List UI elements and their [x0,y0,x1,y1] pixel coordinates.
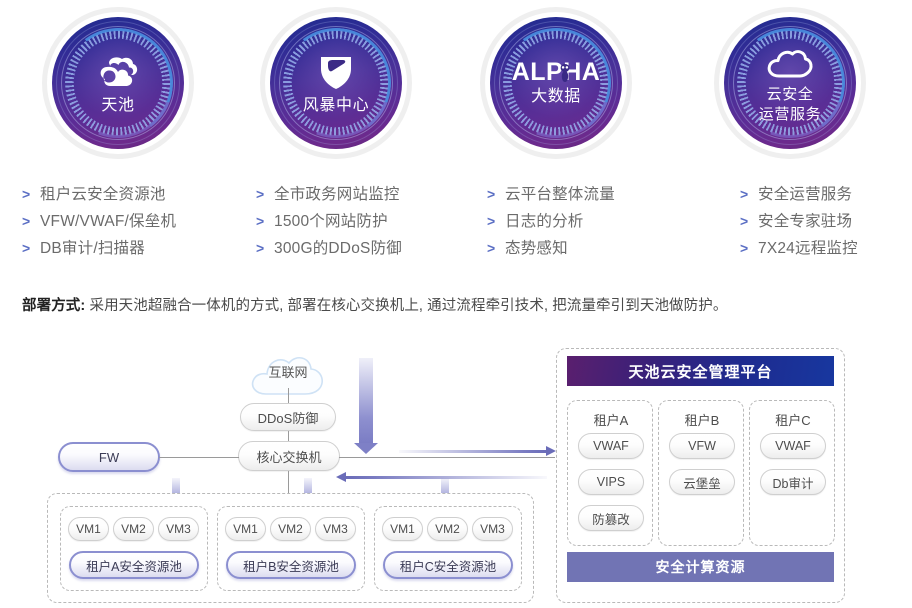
feature-lists: > 租户云安全资源池 > VFW/VWAF/保垒机 > DB审计/扫描器 > 全… [0,182,912,262]
badge-disc: 天池 [52,17,184,149]
badge-disc: 云安全 运营服务 [724,17,856,149]
chevron-right-icon: > [256,213,274,229]
badge-label: 大数据 [531,88,581,106]
platform-tenant-a: 租户A VWAF VIPS 防篡改 [567,400,653,546]
vm-label: VM1 [233,522,258,536]
vm-label: VM2 [121,522,146,536]
tenant-pool-label: 租户B安全资源池 [243,556,339,575]
alpha-wordmark-icon: ALPHA [512,60,601,85]
list-item-label: 日志的分析 [505,209,584,231]
chevron-right-icon: > [256,186,274,202]
tenant-pool-label: 租户C安全资源池 [400,556,497,575]
vm-chip[interactable]: VM3 [315,517,356,541]
chevron-right-icon: > [22,213,40,229]
firewall-label: FW [99,450,119,465]
badge-label-line1: 云安全 [767,87,814,104]
deployment-description: 部署方式: 采用天池超融合一体机的方式, 部署在核心交换机上, 通过流程牵引技术… [22,294,727,315]
platform-service-chip[interactable]: VWAF [760,433,826,459]
chevron-right-icon: > [740,186,758,202]
badge-outer-ring: 风暴中心 [265,12,407,154]
list-item: > 300G的DDoS防御 [256,236,402,263]
vm-chip[interactable]: VM3 [472,517,513,541]
chevron-right-icon: > [22,240,40,256]
owl-glyph-icon [559,63,571,85]
badge-storm-center[interactable]: 风暴中心 [222,8,450,158]
badge-outer-ring: 云安全 运营服务 [719,12,861,154]
vm-label: VM3 [323,522,348,536]
platform-tenant-c: 租户C VWAF Db审计 [749,400,835,546]
badge-alpha-bigdata[interactable]: ALPHA 大数据 [442,8,670,158]
feature-list-alpha: > 云平台整体流量 > 日志的分析 > 态势感知 [487,182,615,263]
service-label: VFW [688,439,716,453]
feature-list-storm-center: > 全市政务网站监控 > 1500个网站防护 > 300G的DDoS防御 [256,182,402,263]
service-label: VIPS [597,475,626,489]
badge-disc: 风暴中心 [270,17,402,149]
vm-chip[interactable]: VM2 [270,517,311,541]
service-label: VWAF [593,439,629,453]
list-item: > 租户云安全资源池 [22,182,176,209]
list-item-label: VFW/VWAF/保垒机 [40,209,176,231]
vm-chip[interactable]: VM1 [225,517,266,541]
badge-label: 天池 [101,97,134,115]
chevron-right-icon: > [740,240,758,256]
badge-content: ALPHA 大数据 [490,17,622,149]
platform-service-chip[interactable]: VIPS [578,469,644,495]
vm-chip[interactable]: VM1 [68,517,109,541]
tenant-pool-chip[interactable]: 租户A安全资源池 [69,551,199,579]
list-item: > 全市政务网站监控 [256,182,402,209]
vm-label: VM1 [76,522,101,536]
tenant-pool-chip[interactable]: 租户C安全资源池 [383,551,513,579]
badge-disc: ALPHA 大数据 [490,17,622,149]
chevron-right-icon: > [487,186,505,202]
chevron-right-icon: > [256,240,274,256]
list-item-label: 全市政务网站监控 [274,182,400,204]
architecture-diagram: 互联网 DDoS防御 核心交换机 FW [0,336,912,608]
platform-footer-label: 安全计算资源 [656,557,746,577]
tenant-pod-c: VM1 VM2 VM3 租户C安全资源池 [374,506,522,591]
list-item-label: DB审计/扫描器 [40,236,145,258]
ddos-label: DDoS防御 [258,408,319,427]
list-item: > 安全运营服务 [740,182,858,209]
service-label: VWAF [775,439,811,453]
badge-content: 风暴中心 [270,17,402,149]
platform-tenant-title: 租户A [568,410,654,429]
platform-service-chip[interactable]: 云堡垒 [669,469,735,495]
vm-label: VM3 [480,522,505,536]
vm-label: VM2 [278,522,303,536]
vm-chip[interactable]: VM3 [158,517,199,541]
shield-eye-icon [318,52,354,92]
cloud-swirl-icon [95,52,141,92]
tenant-pool-label: 租户A安全资源池 [86,556,182,575]
chevron-right-icon: > [22,186,40,202]
tenant-pool-chip[interactable]: 租户B安全资源池 [226,551,356,579]
list-item-label: 7X24远程监控 [758,236,858,258]
internet-label: 互联网 [268,362,307,381]
chevron-right-icon: > [487,240,505,256]
vm-chip[interactable]: VM2 [427,517,468,541]
badge-row: 天池 [0,8,912,158]
connector-switch-platform [339,457,555,458]
core-switch-label: 核心交换机 [256,447,321,466]
vm-label: VM3 [166,522,191,536]
list-item: > 安全专家驻场 [740,209,858,236]
platform-tenant-title: 租户B [659,410,745,429]
list-item: > 云平台整体流量 [487,182,615,209]
service-label: Db审计 [773,473,814,492]
platform-header: 天池云安全管理平台 [567,356,834,386]
core-switch-node[interactable]: 核心交换机 [238,441,340,471]
badge-content: 天池 [52,17,184,149]
badge-outer-ring: 天池 [47,12,189,154]
connector-fw-switch [159,457,239,458]
badge-cloud-security-ops[interactable]: 云安全 运营服务 [676,8,904,158]
list-item: > VFW/VWAF/保垒机 [22,209,176,236]
list-item: > 态势感知 [487,236,615,263]
tenant-pod-b: VM1 VM2 VM3 租户B安全资源池 [217,506,365,591]
firewall-node[interactable]: FW [58,442,160,472]
list-item-label: 安全专家驻场 [758,209,852,231]
vm-label: VM2 [435,522,460,536]
list-item-label: 安全运营服务 [758,182,852,204]
platform-service-chip[interactable]: VWAF [578,433,644,459]
traffic-to-platform-arrow [399,450,547,453]
service-label: 防篡改 [592,509,630,528]
badge-outer-ring: ALPHA 大数据 [485,12,627,154]
list-item: > 1500个网站防护 [256,209,402,236]
tenant-pod-a: VM1 VM2 VM3 租户A安全资源池 [60,506,208,591]
feature-list-tianchi: > 租户云安全资源池 > VFW/VWAF/保垒机 > DB审计/扫描器 [22,182,176,263]
platform-service-chip[interactable]: 防篡改 [578,505,644,531]
badge-label: 风暴中心 [303,97,369,115]
ddos-node[interactable]: DDoS防御 [240,403,336,431]
platform-service-chip[interactable]: VFW [669,433,735,459]
platform-service-chip[interactable]: Db审计 [760,469,826,495]
list-item-label: 云平台整体流量 [505,182,615,204]
list-item: > 7X24远程监控 [740,236,858,263]
chevron-right-icon: > [487,213,505,229]
service-label: 云堡垒 [683,473,721,492]
badge-tianchi[interactable]: 天池 [4,8,232,158]
alpha-wordmark-text: ALPHA [512,60,601,85]
chevron-right-icon: > [740,213,758,229]
vm-chip[interactable]: VM2 [113,517,154,541]
platform-footer: 安全计算资源 [567,552,834,582]
list-item-label: 租户云安全资源池 [40,182,166,204]
infographic-page: 天池 [0,0,912,608]
feature-list-cloud-ops: > 安全运营服务 > 安全专家驻场 > 7X24远程监控 [740,182,858,263]
vm-chip[interactable]: VM1 [382,517,423,541]
list-item-label: 1500个网站防护 [274,209,388,231]
platform-header-label: 天池云安全管理平台 [628,361,772,382]
badge-label-line2: 运营服务 [759,107,821,124]
platform-tenant-b: 租户B VFW 云堡垒 [658,400,744,546]
list-item-label: 态势感知 [505,236,568,258]
cloud-outline-icon [766,42,814,82]
platform-tenant-title: 租户C [750,410,836,429]
deployment-label: 部署方式: [22,298,85,314]
list-item: > 日志的分析 [487,209,615,236]
vm-label: VM1 [390,522,415,536]
traffic-steer-down-arrow [359,358,373,444]
list-item-label: 300G的DDoS防御 [274,236,402,258]
deployment-text: 采用天池超融合一体机的方式, 部署在核心交换机上, 通过流程牵引技术, 把流量牵… [85,298,727,314]
list-item: > DB审计/扫描器 [22,236,176,263]
badge-content: 云安全 运营服务 [724,17,856,149]
